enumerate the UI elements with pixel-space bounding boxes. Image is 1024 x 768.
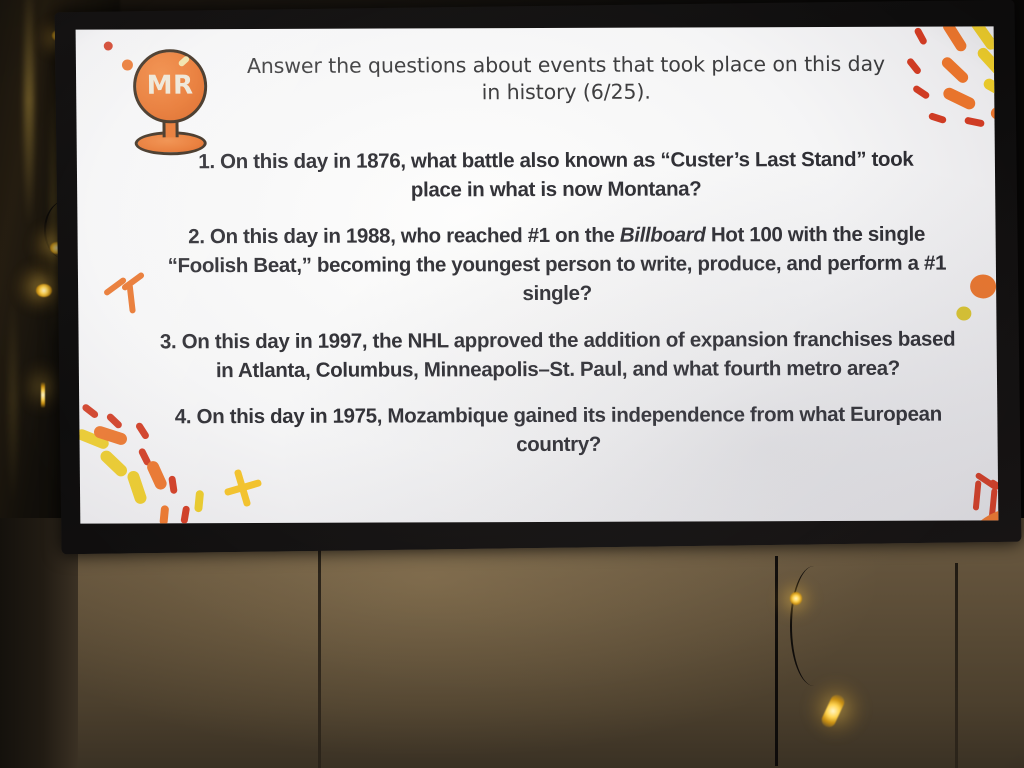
wall-panel-seam — [955, 563, 958, 768]
lower-wall — [0, 518, 1024, 768]
question-text: 1. On this day in 1876, what battle also… — [198, 148, 913, 202]
decor-dot — [970, 274, 996, 298]
question-item: 3. On this day in 1997, the NHL approved… — [152, 324, 963, 385]
question-list: 1. On this day in 1876, what battle also… — [151, 145, 964, 478]
television: MR Answer the questions about events tha… — [54, 0, 1021, 554]
decor-dot — [122, 59, 133, 70]
photo-scene: MR Answer the questions about events tha… — [0, 0, 1024, 768]
question-text: 4. On this day in 1975, Mozambique gaine… — [175, 402, 942, 456]
cross-icon — [222, 467, 262, 507]
lower-wall-left-edge — [0, 518, 78, 768]
chevron-up-left-icon — [972, 472, 998, 514]
mr-logo: MR — [122, 47, 219, 159]
tv-screen: MR Answer the questions about events tha… — [76, 26, 999, 523]
question-text: 3. On this day in 1997, the NHL approved… — [160, 327, 956, 382]
logo-ball: MR — [133, 49, 208, 123]
decor-dot — [104, 41, 113, 50]
decor-dot — [956, 306, 971, 320]
question-text: 2. On this day in 1988, who reached #1 o… — [188, 224, 620, 249]
presentation-slide: MR Answer the questions about events tha… — [76, 26, 999, 523]
chevron-up-right-icon — [102, 279, 144, 319]
logo-initials: MR — [136, 71, 204, 101]
question-item: 2. On this day in 1988, who reached #1 o… — [151, 220, 962, 310]
question-item: 1. On this day in 1876, what battle also… — [151, 145, 962, 206]
question-emphasis: Billboard — [620, 224, 706, 247]
question-item: 4. On this day in 1975, Mozambique gaine… — [153, 399, 964, 460]
wall-panel-seam — [318, 538, 321, 768]
slide-header: Answer the questions about events that t… — [246, 51, 887, 107]
